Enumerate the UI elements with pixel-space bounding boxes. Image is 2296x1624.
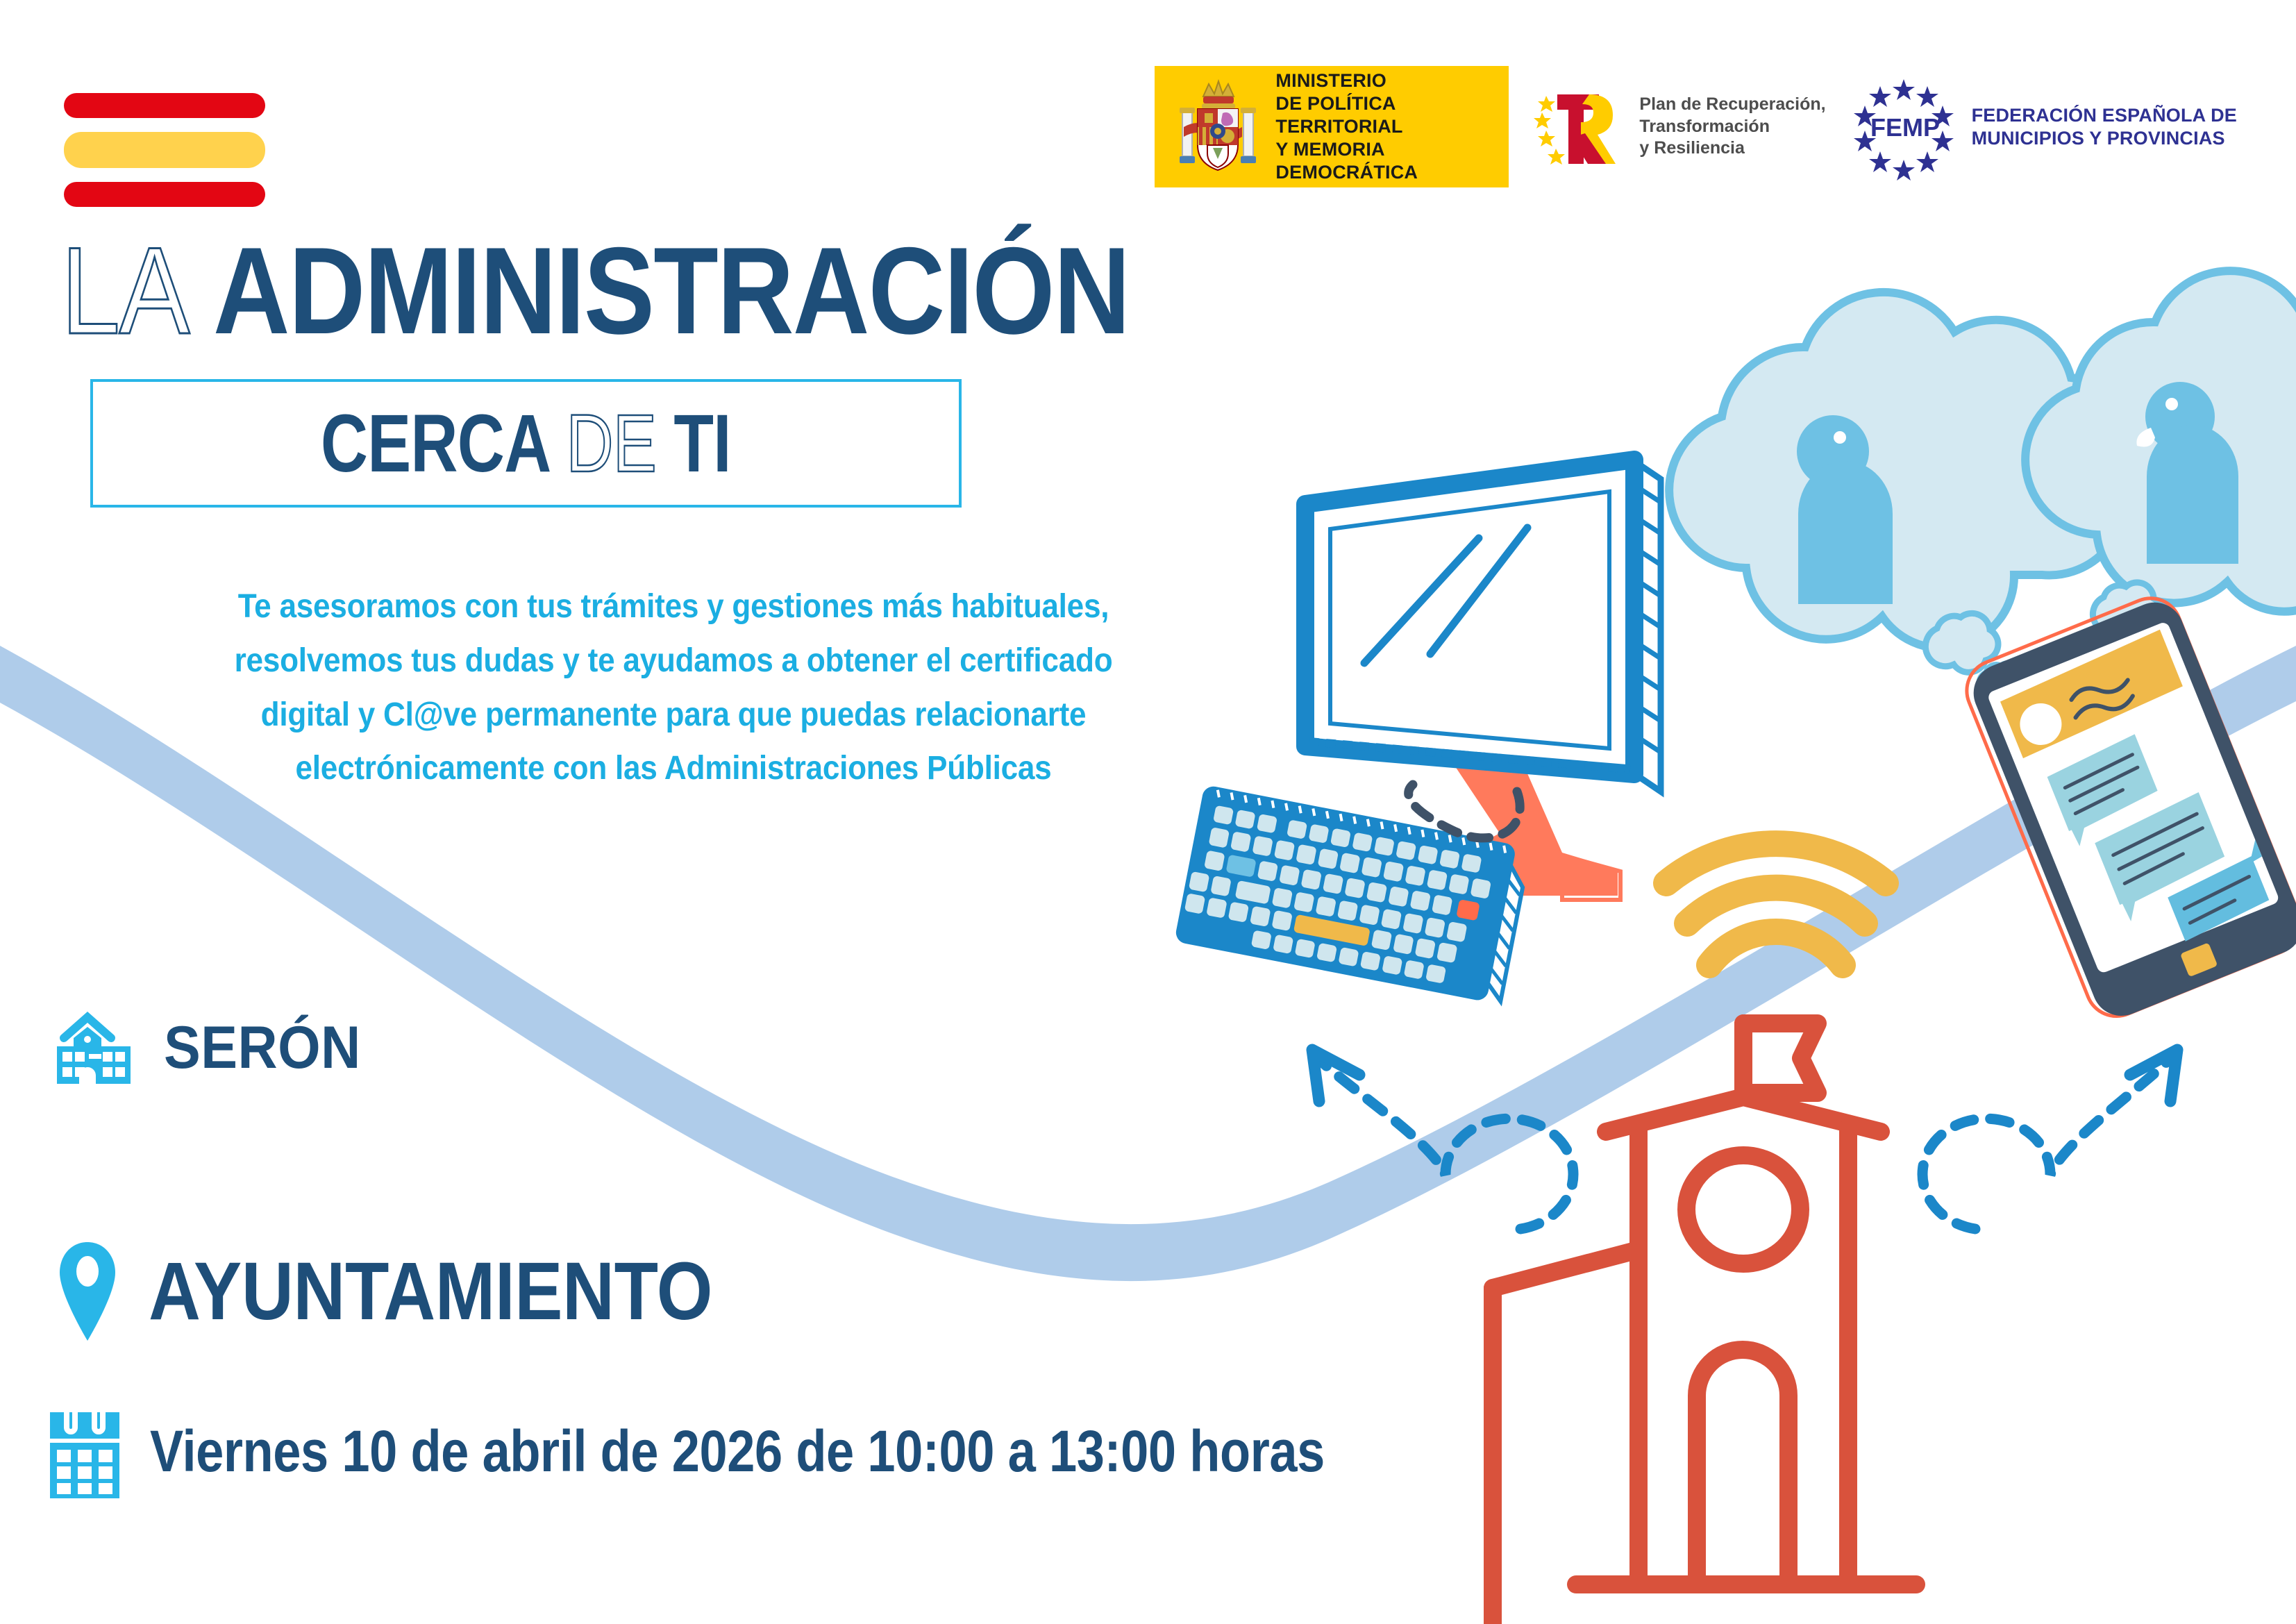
logo-ministerio: MINISTERIO DE POLÍTICA TERRITORIAL Y MEM… <box>1155 66 1509 187</box>
town-row: SERÓN <box>56 1010 378 1085</box>
poster-root: MINISTERIO DE POLÍTICA TERRITORIAL Y MEM… <box>0 0 2296 1624</box>
spanish-flag-bars-icon <box>64 89 272 214</box>
femp-acronym: FEMP <box>1870 113 1940 142</box>
town-hall-icon <box>56 1010 132 1085</box>
town-name: SERÓN <box>164 1014 361 1082</box>
map-pin-icon <box>54 1239 121 1343</box>
ministerio-label: MINISTERIO DE POLÍTICA TERRITORIAL Y MEM… <box>1275 69 1498 184</box>
body-line-2: resolvemos tus dudas y te ayudamos a obt… <box>182 634 1166 688</box>
headline-administracion: ADMINISTRACIÓN <box>213 221 1130 360</box>
venue-row: AYUNTAMIENTO <box>54 1239 789 1343</box>
thought-cloud-person-left <box>1669 292 2136 700</box>
headline-de: DE <box>567 398 657 489</box>
logo-femp: FEMP FEDERACIÓN ESPAÑOLA DE MUNICIPIOS Y… <box>1850 75 2237 179</box>
femp-label: FEDERACIÓN ESPAÑOLA DE MUNICIPIOS Y PROV… <box>1972 104 2237 149</box>
logo-prtr: Plan de Recuperación, Transformación y R… <box>1532 82 1825 172</box>
computer-keyboard <box>1174 785 1530 1005</box>
desktop-monitor <box>1305 460 1661 900</box>
logo-bar: MINISTERIO DE POLÍTICA TERRITORIAL Y MEM… <box>1155 66 2237 187</box>
body-line-3: digital y Cl@ve permanente para que pued… <box>182 688 1166 742</box>
venue-name: AYUNTAMIENTO <box>149 1244 712 1339</box>
spain-coat-of-arms-icon <box>1173 76 1263 178</box>
headline-cerca: CERCA <box>321 398 548 489</box>
headline-ti: TI <box>674 398 731 489</box>
tr-monogram-icon <box>1532 82 1629 172</box>
thought-cloud-person-right <box>2025 271 2296 671</box>
headline-subtitle-box: CERCA DE TI <box>90 379 962 508</box>
prtr-label: Plan de Recuperación, Transformación y R… <box>1639 94 1825 160</box>
headline-line-1: LA ADMINISTRACIÓN <box>61 229 1196 353</box>
page-title: LA ADMINISTRACIÓN <box>61 229 1380 353</box>
dashed-arrow-left <box>1312 1050 1573 1229</box>
spanish-flag-mark <box>64 89 272 214</box>
date-row: Viernes 10 de abril de 2026 de 10:00 a 1… <box>46 1403 1516 1500</box>
body-paragraph: Te asesoramos con tus trámites y gestion… <box>182 580 1166 796</box>
headline-line-2: CERCA DE TI <box>321 403 731 485</box>
smartphone-chat <box>1958 589 2296 1027</box>
headline-la: LA <box>61 221 189 360</box>
date-text: Viernes 10 de abril de 2026 de 10:00 a 1… <box>150 1418 1325 1485</box>
body-line-1: Te asesoramos con tus trámites y gestion… <box>182 580 1166 634</box>
body-line-4: electrónicamente con las Administracione… <box>182 742 1166 796</box>
dashed-cable <box>1409 785 1520 838</box>
calendar-icon <box>46 1403 124 1500</box>
dashed-arrow-right <box>1922 1050 2177 1229</box>
town-hall-building <box>1493 1023 1916 1624</box>
femp-emblem-icon: FEMP <box>1850 75 1961 179</box>
wifi-icon <box>1666 844 1886 965</box>
